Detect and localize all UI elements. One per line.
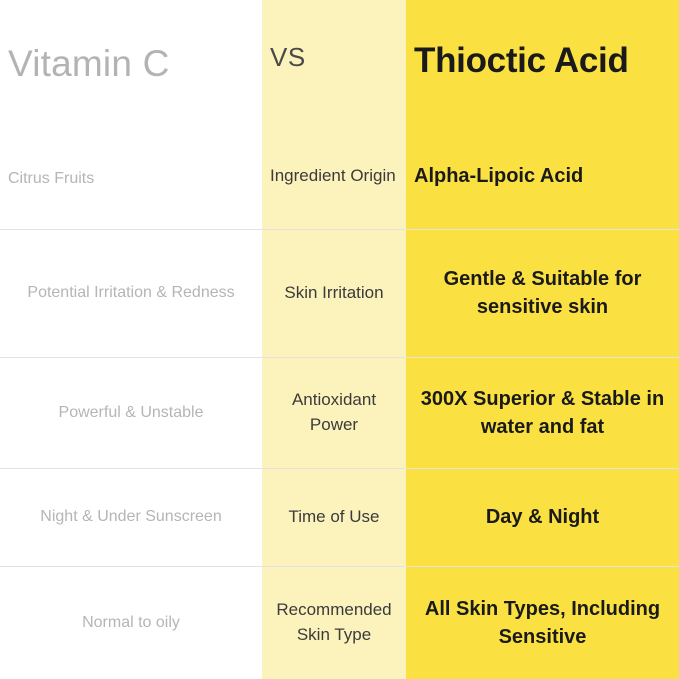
comparison-table: Vitamin C Citrus Fruits VS Ingredient Or… — [0, 0, 679, 679]
vs-label: VS — [270, 40, 306, 74]
row-3-left-cell: Powerful & Unstable — [0, 357, 262, 468]
row-3-left-value: Powerful & Unstable — [59, 401, 204, 425]
row-3-right-value: 300X Superior & Stable in water and fat — [415, 385, 670, 441]
table-row: Night & Under Sunscreen Time of Use Day … — [0, 468, 679, 566]
row-2-feature-label: Skin Irritation — [284, 281, 383, 306]
header-cell-vitamin-c: Vitamin C Citrus Fruits — [0, 0, 262, 229]
row-5-left-value: Normal to oily — [82, 611, 180, 635]
row-3-right-cell: 300X Superior & Stable in water and fat — [406, 357, 679, 468]
row-2-left-value: Potential Irritation & Redness — [27, 281, 234, 305]
row-2-feature-cell: Skin Irritation — [262, 229, 406, 357]
row-2-right-value: Gentle & Suitable for sensitive skin — [415, 265, 670, 321]
header-cell-thioctic-acid: Thioctic Acid Alpha-Lipoic Acid — [406, 0, 679, 229]
row-5-feature-label: Recommended Skin Type — [270, 598, 398, 647]
row-5-right-cell: All Skin Types, Including Sensitive — [406, 566, 679, 679]
table-header-row: Vitamin C Citrus Fruits VS Ingredient Or… — [0, 0, 679, 229]
row-1-left-value: Citrus Fruits — [8, 168, 94, 189]
row-5-left-cell: Normal to oily — [0, 566, 262, 679]
page-title-right: Thioctic Acid — [414, 40, 629, 81]
row-4-right-value: Day & Night — [486, 503, 599, 531]
row-4-feature-label: Time of Use — [288, 505, 379, 530]
page-title-left: Vitamin C — [8, 40, 170, 89]
table-rows: Vitamin C Citrus Fruits VS Ingredient Or… — [0, 0, 679, 679]
row-4-left-value: Night & Under Sunscreen — [40, 505, 221, 529]
row-2-left-cell: Potential Irritation & Redness — [0, 229, 262, 357]
row-4-feature-cell: Time of Use — [262, 468, 406, 566]
table-row: Powerful & Unstable Antioxidant Power 30… — [0, 357, 679, 468]
row-3-feature-cell: Antioxidant Power — [262, 357, 406, 468]
header-cell-vs: VS Ingredient Origin — [262, 0, 406, 229]
row-1-feature-label: Ingredient Origin — [270, 164, 396, 189]
table-row: Potential Irritation & Redness Skin Irri… — [0, 229, 679, 357]
row-4-left-cell: Night & Under Sunscreen — [0, 468, 262, 566]
row-5-feature-cell: Recommended Skin Type — [262, 566, 406, 679]
row-4-right-cell: Day & Night — [406, 468, 679, 566]
row-3-feature-label: Antioxidant Power — [270, 388, 398, 437]
row-1-right-value: Alpha-Lipoic Acid — [414, 163, 583, 189]
row-2-right-cell: Gentle & Suitable for sensitive skin — [406, 229, 679, 357]
table-row: Normal to oily Recommended Skin Type All… — [0, 566, 679, 679]
row-5-right-value: All Skin Types, Including Sensitive — [415, 595, 670, 651]
